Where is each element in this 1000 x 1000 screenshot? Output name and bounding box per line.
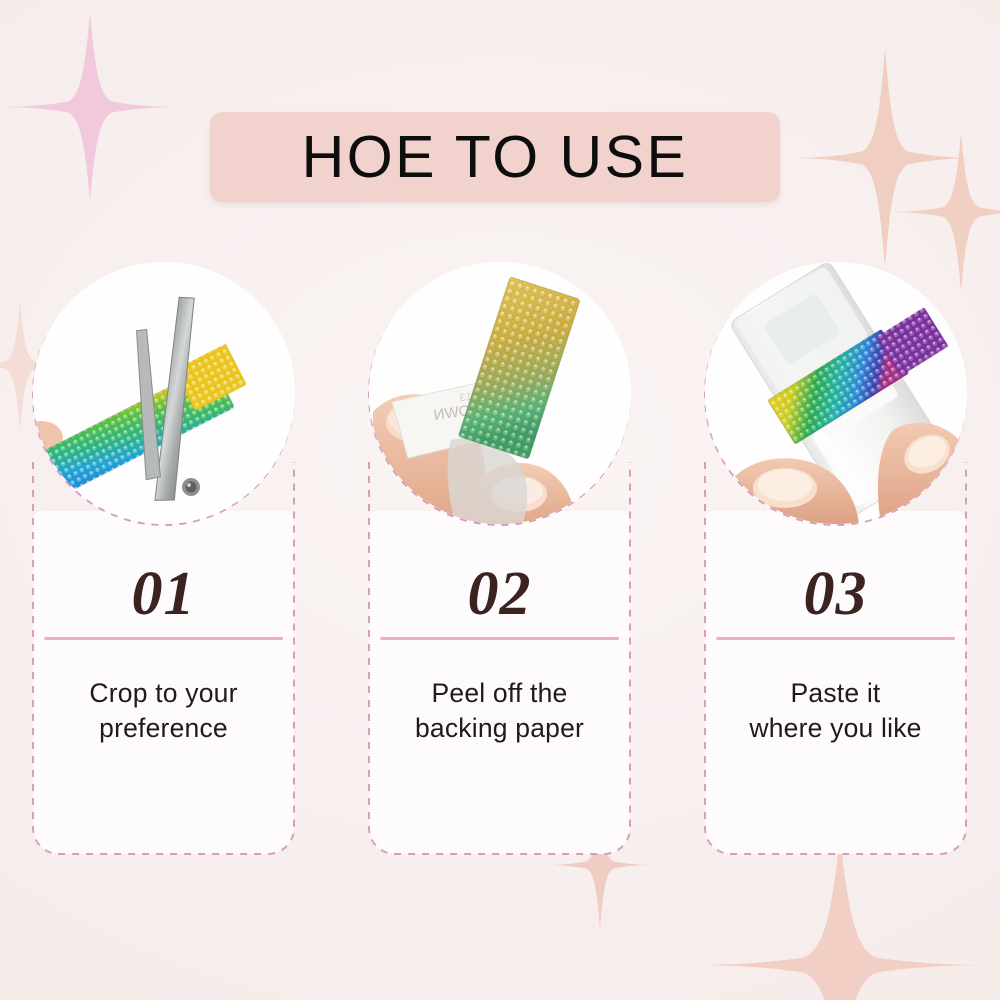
step-caption-03: Paste it where you like (696, 676, 975, 746)
step-card-02[interactable]: CROWN 8813 02 Peel off (360, 262, 639, 858)
step-photo-03 (705, 262, 967, 524)
page-title: HOE TO USE (302, 128, 689, 187)
step-number-02: 02 (360, 562, 639, 627)
caption-line-2: backing paper (370, 711, 629, 746)
step-body-03: 03 Paste it where you like (696, 562, 975, 746)
caption-line-1: Paste it (706, 676, 965, 711)
step-number-01: 01 (24, 562, 303, 627)
infographic-canvas: HOE TO USE (0, 0, 1000, 1000)
step-card-03[interactable]: 03 Paste it where you like (696, 262, 975, 858)
step-photo-01 (33, 262, 295, 524)
step-caption-02: Peel off the backing paper (360, 676, 639, 746)
step-body-01: 01 Crop to your preference (24, 562, 303, 746)
title-banner: HOE TO USE (210, 112, 780, 202)
step-body-02: 02 Peel off the backing paper (360, 562, 639, 746)
caption-line-1: Peel off the (370, 676, 629, 711)
step-card-01[interactable]: 01 Crop to your preference (24, 262, 303, 858)
step-photo-02: CROWN 8813 (369, 262, 631, 524)
step-divider-03 (716, 637, 955, 640)
step-divider-01 (44, 637, 283, 640)
caption-line-2: where you like (706, 711, 965, 746)
step-divider-02 (380, 637, 619, 640)
caption-line-2: preference (34, 711, 293, 746)
caption-line-1: Crop to your (34, 676, 293, 711)
step-number-03: 03 (696, 562, 975, 627)
step-caption-01: Crop to your preference (24, 676, 303, 746)
